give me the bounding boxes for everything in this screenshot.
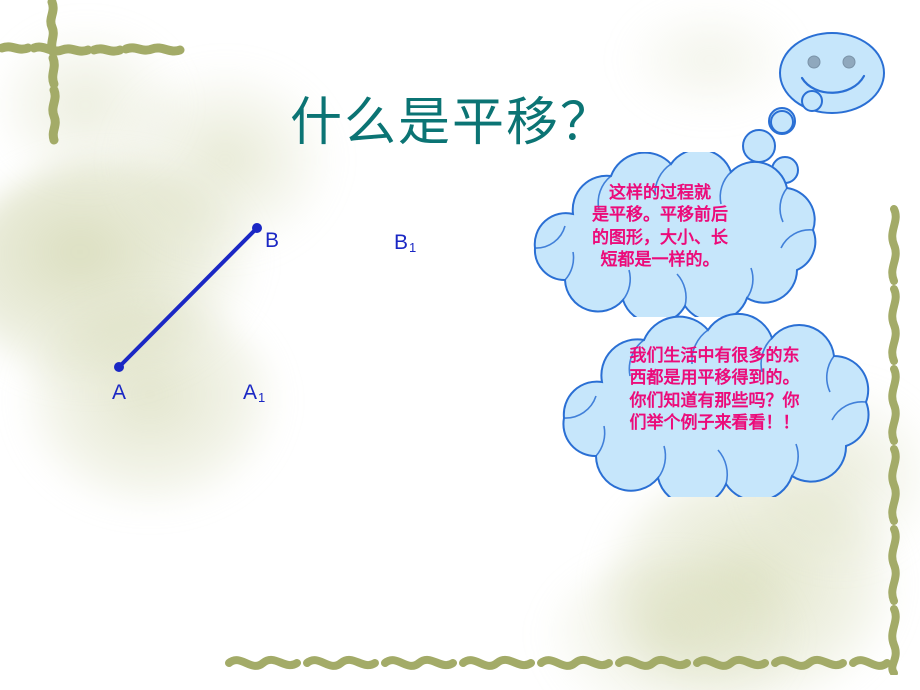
- slide-canvas: 什么是平移？ A B A1 B1: [0, 0, 920, 690]
- thought-cloud-1-text: 这样的过程就 是平移。平移前后 的图形，大小、长 短都是一样的。: [545, 182, 775, 272]
- point-label-b: B: [265, 230, 279, 251]
- point-label-a1: A1: [243, 382, 264, 403]
- point-label-b1: B1: [394, 232, 415, 253]
- point-label-a: A: [112, 382, 126, 403]
- smiley-face-icon: [760, 20, 900, 150]
- thought-cloud-2-text: 我们生活中有很多的东 西都是用平移得到的。 你们知道有那些吗？你 们举个例子来看…: [582, 345, 847, 435]
